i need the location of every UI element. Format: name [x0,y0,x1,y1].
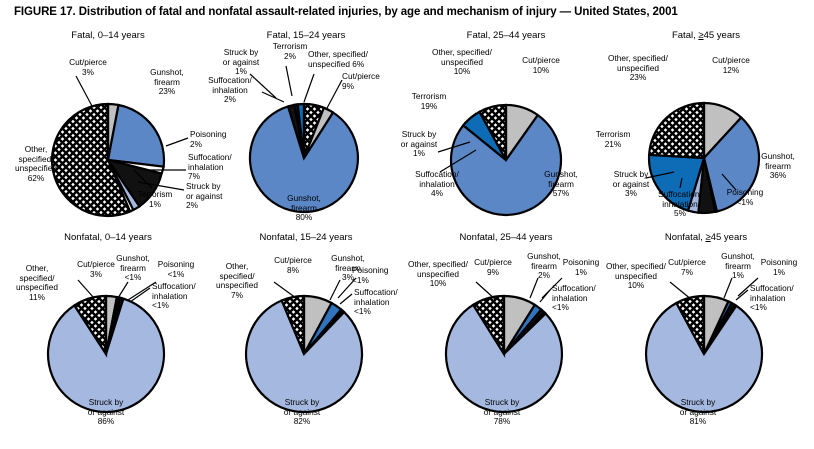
chart-panel-nonfatal-25-44: Nonfatal, 25–44 years [404,232,608,437]
slice-label-poisoning: Poisoning 1% [750,258,808,277]
chart-panel-fatal-25-44: Fatal, 25–44 years [404,30,608,235]
slice-label-struck-by: Struck by or against 81% [666,398,730,427]
slice-label-gunshot: Gunshot, firearm 80% [272,194,336,223]
slice-label-other: Other, specified/ unspecified 6% [308,50,404,69]
slice-label-terrorism: Terrorism 21% [582,130,644,149]
panel-title: Nonfatal, ≥45 years [604,232,808,243]
slice-label-poisoning: Poisoning <1% [714,188,776,207]
slice-label-other: Other, specified/ unspecified 11% [0,264,74,302]
panel-title-post: 45 years [711,232,747,243]
panel-title-post: 45 years [704,30,740,41]
slice-label-cut-pierce: Cut/pierce 12% [698,56,764,75]
slice-label-gunshot: Gunshot, firearm 36% [748,152,808,181]
slice-label-suffocation: Suffocation/ inhalation 5% [644,190,716,219]
panel-title: Fatal, 15–24 years [204,30,408,41]
slice-label-struck-by: Struck by or against 78% [470,398,534,427]
panel-title-pre: Nonfatal, [665,232,706,243]
panel-title: Nonfatal, 25–44 years [404,232,608,243]
panel-title-pre: Fatal, [672,30,698,41]
slice-label-struck-by: Struck by or against 86% [74,398,138,427]
slice-label-gunshot: Gunshot, firearm 23% [136,68,198,97]
panel-title: Nonfatal, 15–24 years [204,232,408,243]
slice-label-other: Other, specified/ unspecified 10% [416,48,508,77]
slice-label-cut-pierce: Cut/pierce 3% [48,58,128,77]
slice-label-poisoning: Poisoning <1% [146,260,206,279]
panel-title: Fatal, 25–44 years [404,30,608,41]
slice-label-cut-pierce: Cut/pierce 8% [260,256,326,275]
chart-panel-nonfatal-45: Nonfatal, ≥45 years [604,232,808,437]
chart-panel-fatal-15-24: Fatal, 15–24 years [204,30,408,235]
slice-label-other: Other, specified/ unspecified 62% [2,145,70,183]
slice-label-struck-by: Struck by or against 82% [270,398,334,427]
slice-label-terrorism: Terrorism 19% [398,92,460,111]
slice-label-struck-by: Struck by or against 1% [388,130,450,159]
slice-label-suffocation: Suffocation/ inhalation <1% [750,284,814,313]
chart-panel-fatal-0-14: Fatal, 0–14 years [6,30,210,235]
chart-panel-fatal-45: Fatal, ≥45 years [604,30,808,235]
slice-label-suffocation: Suffocation/ inhalation 4% [400,170,474,199]
page-title: FIGURE 17. Distribution of fatal and non… [14,6,678,18]
panel-title: Nonfatal, 0–14 years [6,232,210,243]
slice-label-other: Other, specified/ unspecified 23% [592,54,684,83]
panel-title: Fatal, 0–14 years [6,30,210,41]
slice-label-gunshot: Gunshot, firearm 57% [530,170,592,199]
chart-panel-nonfatal-0-14: Nonfatal, 0–14 years [6,232,210,437]
slice-label-suffocation: Suffocation/ inhalation 2% [196,76,264,105]
slice-label-terrorism: Terrorism 1% [124,190,186,209]
slice-label-cut-pierce: Cut/pierce 10% [508,56,574,75]
panel-title: Fatal, ≥45 years [604,30,808,41]
chart-panel-nonfatal-15-24: Nonfatal, 15–24 years [204,232,408,437]
slice-label-cut-pierce: Cut/pierce 9% [342,72,406,91]
